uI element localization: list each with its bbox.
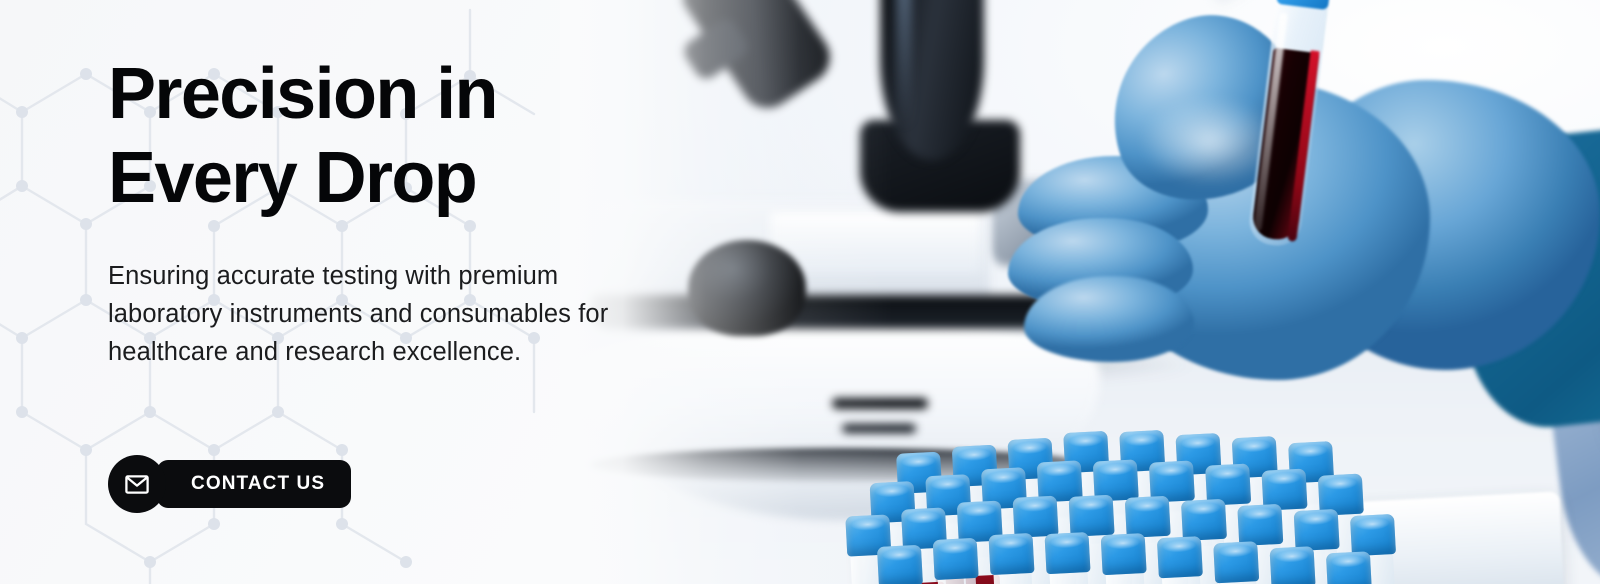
sample-vial <box>1232 436 1276 438</box>
sample-vial <box>870 481 914 483</box>
laboratory-photo <box>560 0 1600 584</box>
contact-us-button[interactable]: CONTACT US <box>108 455 351 513</box>
sample-vial <box>952 445 996 447</box>
microscope-focus-knob-front <box>688 240 806 336</box>
hero-banner: Precision in Every Drop Ensuring accurat… <box>0 0 1600 584</box>
contact-us-label: CONTACT US <box>157 460 351 508</box>
envelope-icon <box>108 455 166 513</box>
microscope-tube-highlight <box>896 0 912 130</box>
microscope-slide <box>770 212 980 272</box>
sample-vial <box>1288 441 1332 443</box>
hero-content: Precision in Every Drop Ensuring accurat… <box>0 0 700 584</box>
page-title: Precision in Every Drop <box>108 52 688 220</box>
sample-vial <box>896 452 940 454</box>
microscope-vent-slot <box>842 424 916 433</box>
hero-subcopy: Ensuring accurate testing with premium l… <box>108 257 678 371</box>
sample-vial <box>1175 433 1219 435</box>
microscope-vent-slot <box>832 398 928 409</box>
